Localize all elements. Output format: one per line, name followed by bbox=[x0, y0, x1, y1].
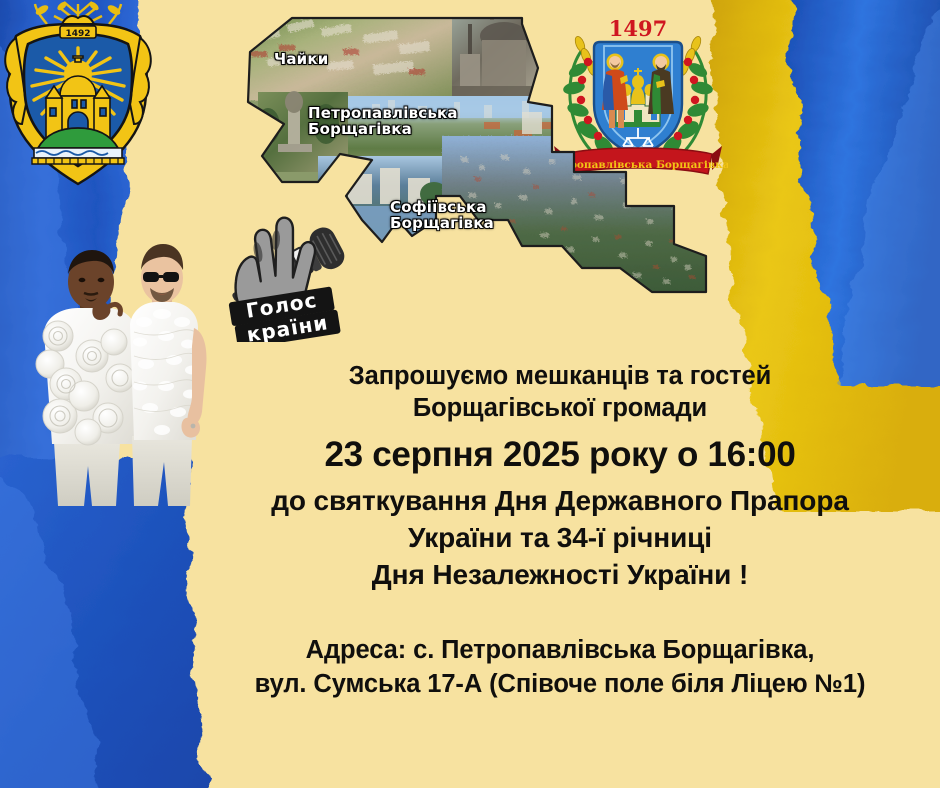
purpose-line-2: України та 34-ї річниці bbox=[180, 519, 940, 556]
kyiv-oblast-coat-of-arms-icon: 1492 bbox=[2, 0, 154, 192]
announcement-poster: 1492 bbox=[0, 0, 940, 788]
event-date-time: 23 серпня 2025 року о 16:00 bbox=[180, 428, 940, 482]
address-line-1: Адреса: с. Петропавлівська Борщагівка, bbox=[180, 633, 940, 667]
address-line-2: вул. Сумська 17-А (Співоче поле біля Ліц… bbox=[180, 667, 940, 701]
voice-of-ukraine-logo-icon: Голос країни bbox=[218, 212, 350, 342]
invite-line-2: Борщагівської громади bbox=[180, 392, 940, 424]
announcement-text: Запрошуємо мешканців та гостей Борщагівс… bbox=[180, 360, 940, 701]
coa-left-year: 1492 bbox=[65, 29, 90, 39]
address-block: Адреса: с. Петропавлівська Борщагівка, в… bbox=[180, 633, 940, 701]
purpose-line-1: до святкування Дня Державного Прапора bbox=[180, 482, 940, 519]
performer-left bbox=[36, 250, 136, 506]
invite-line-1: Запрошуємо мешканців та гостей bbox=[180, 360, 940, 392]
purpose-line-3: Дня Незалежності України ! bbox=[180, 556, 940, 593]
